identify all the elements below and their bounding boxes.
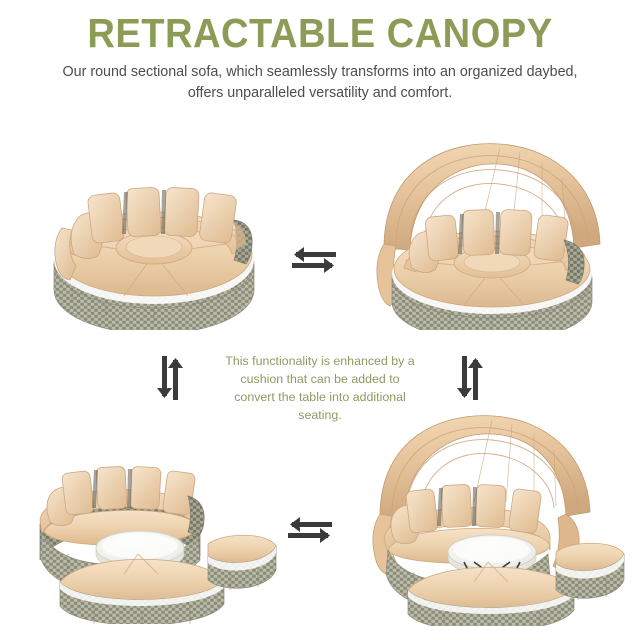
product-illustration-bottom-left <box>18 440 284 624</box>
double-arrow-horizontal-bottom <box>284 512 336 548</box>
product-illustration-top-left <box>28 168 280 330</box>
double-arrow-vertical-right <box>452 352 488 404</box>
page-title: RETRACTABLE CANOPY <box>22 12 617 55</box>
page-subtitle: Our round sectional sofa, which seamless… <box>62 62 578 105</box>
infographic-page: RETRACTABLE CANOPY Our round sectional s… <box>0 0 640 640</box>
product-illustration-top-right <box>360 132 618 330</box>
product-illustration-bottom-right <box>358 404 630 626</box>
double-arrow-vertical-left <box>152 352 188 404</box>
center-annotation: This functionality is enhanced by a cush… <box>222 352 418 424</box>
double-arrow-horizontal-top <box>288 242 340 278</box>
